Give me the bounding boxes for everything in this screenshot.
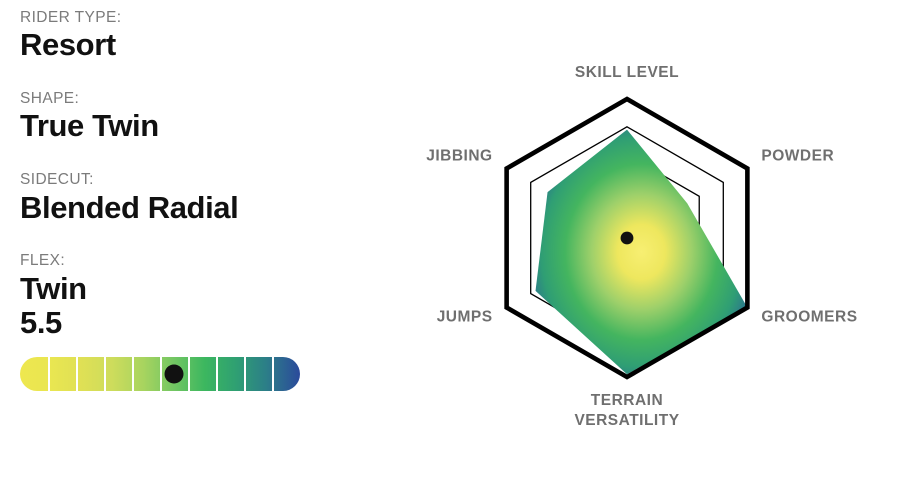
spec-sheet-page: RIDER TYPE: Resort SHAPE: True Twin SIDE… <box>0 0 900 479</box>
axis-label-powder: POWDER <box>761 148 834 165</box>
spec-value-flex-name: Twin <box>20 272 360 307</box>
axis-label-terrain-versatility-line2: VERSATILITY <box>574 412 679 429</box>
spec-value-flex-number: 5.5 <box>20 306 360 341</box>
flex-meter-tick <box>216 357 218 391</box>
axis-label-jumps: JUMPS <box>437 309 493 326</box>
spec-value-flex: Twin 5.5 <box>20 272 360 341</box>
spec-label-rider-type: RIDER TYPE: <box>20 8 360 27</box>
radar-center-marker <box>621 232 634 245</box>
spec-panel: RIDER TYPE: Resort SHAPE: True Twin SIDE… <box>20 8 360 391</box>
axis-label-jibbing: JIBBING <box>426 148 492 165</box>
spec-block-sidecut: SIDECUT: Blended Radial <box>20 170 360 225</box>
flex-meter-tick <box>188 357 190 391</box>
flex-meter-tick <box>132 357 134 391</box>
spec-value-shape: True Twin <box>20 109 360 144</box>
flex-meter-tick <box>160 357 162 391</box>
spec-label-shape: SHAPE: <box>20 89 360 108</box>
flex-meter[interactable] <box>20 357 300 391</box>
radar-chart-svg: SKILL LEVEL POWDER GROOMERS TERRAIN VERS… <box>390 0 900 479</box>
flex-meter-tick <box>272 357 274 391</box>
spec-block-flex: FLEX: Twin 5.5 <box>20 251 360 391</box>
spec-block-shape: SHAPE: True Twin <box>20 89 360 144</box>
spec-value-sidecut: Blended Radial <box>20 191 360 226</box>
flex-meter-track[interactable] <box>20 357 300 391</box>
flex-meter-tick <box>76 357 78 391</box>
flex-meter-tick <box>244 357 246 391</box>
axis-label-terrain-versatility-line1: TERRAIN <box>591 392 663 409</box>
spec-label-flex: FLEX: <box>20 251 360 270</box>
radar-chart: SKILL LEVEL POWDER GROOMERS TERRAIN VERS… <box>390 0 900 479</box>
spec-label-sidecut: SIDECUT: <box>20 170 360 189</box>
axis-label-groomers: GROOMERS <box>761 309 857 326</box>
spec-value-rider-type: Resort <box>20 28 360 63</box>
spec-block-rider-type: RIDER TYPE: Resort <box>20 8 360 63</box>
axis-label-skill-level: SKILL LEVEL <box>575 64 679 81</box>
flex-meter-tick <box>104 357 106 391</box>
flex-meter-marker[interactable] <box>165 365 184 384</box>
flex-meter-tick <box>48 357 50 391</box>
radar-data-polygon <box>536 130 748 375</box>
